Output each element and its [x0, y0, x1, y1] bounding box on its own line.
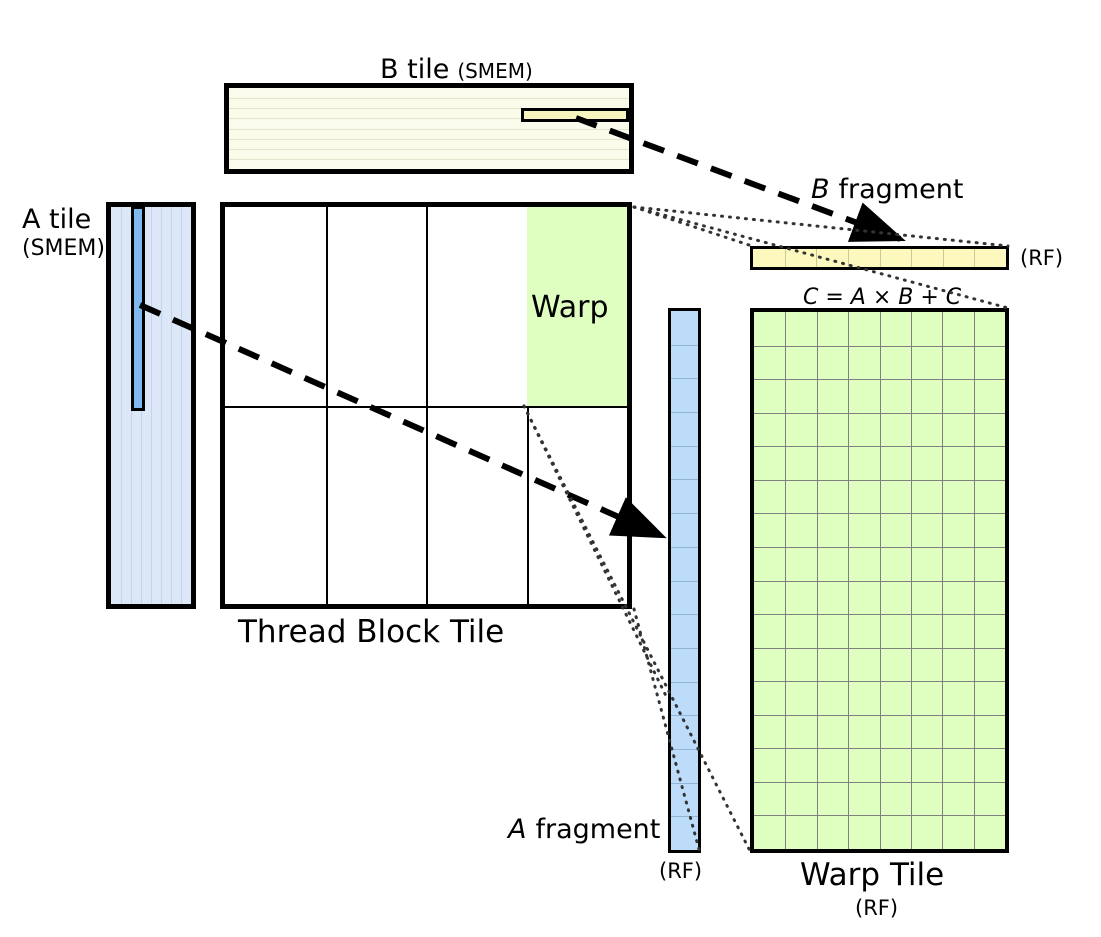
- stripe-line: [171, 207, 172, 604]
- warp-tile-cells: [754, 312, 1005, 849]
- grid-line-horizontal: [754, 614, 1005, 615]
- stripe-line: [161, 207, 162, 604]
- a-tile-title-main: A tile: [22, 204, 91, 235]
- grid-line-horizontal: [754, 748, 1005, 749]
- stripe-line: [785, 249, 786, 267]
- stripe-line: [911, 249, 912, 267]
- grid-line-horizontal: [754, 379, 1005, 380]
- b-fragment-strip: [750, 246, 1009, 270]
- warp-tile-grid: [750, 308, 1009, 853]
- b-fragment-text: fragment: [839, 174, 964, 205]
- stripe-line: [671, 614, 698, 615]
- stripe-line: [671, 446, 698, 447]
- warp-tile-label: Warp Tile: [800, 860, 944, 891]
- grid-line-horizontal: [754, 715, 1005, 716]
- a-tile-title: A tile (SMEM): [22, 206, 105, 265]
- stripe-line: [848, 249, 849, 267]
- thread-block-tile-label: Thread Block Tile: [238, 617, 504, 648]
- stripe-line: [671, 547, 698, 548]
- b-fragment-mem-label: (RF): [1020, 248, 1063, 269]
- grid-line-horizontal: [754, 446, 1005, 447]
- stripe-line: [671, 648, 698, 649]
- b-tile-title-mem: (SMEM): [457, 59, 532, 83]
- a-tile-highlight-column: [131, 206, 145, 411]
- b-tile-title-main: B tile: [380, 54, 449, 85]
- thread-block-tile-grid: Warp: [220, 202, 632, 609]
- a-fragment-text: fragment: [535, 814, 660, 845]
- grid-line-horizontal: [754, 513, 1005, 514]
- b-fragment-cells: [753, 249, 1006, 267]
- stripe-line: [671, 783, 698, 784]
- a-fragment-strip: [668, 308, 701, 853]
- stripe-line: [671, 479, 698, 480]
- grid-line-horizontal: [754, 346, 1005, 347]
- stripe-line: [880, 249, 881, 267]
- stripe-line: [181, 207, 182, 604]
- warp-tile-mem-label: (RF): [855, 898, 898, 919]
- a-fragment-mem-label: (RF): [659, 861, 702, 882]
- stripe-line: [229, 139, 629, 140]
- stripe-line: [671, 816, 698, 817]
- grid-line-horizontal: [754, 681, 1005, 682]
- grid-line-horizontal: [225, 406, 627, 408]
- stripe-line: [229, 129, 629, 130]
- stripe-line: [671, 682, 698, 683]
- warp-tile-formula: C = A × B + C: [803, 287, 961, 309]
- stripe-line: [671, 513, 698, 514]
- leader-warp-topright-to-b-fragment: [634, 207, 1008, 246]
- b-tile-highlight-strip: [521, 108, 629, 122]
- a-tile-title-mem: (SMEM): [22, 236, 105, 261]
- stripe-line: [229, 149, 629, 150]
- stripe-line: [671, 345, 698, 346]
- a-fragment-cells: [671, 311, 698, 850]
- stripe-line: [151, 207, 152, 604]
- grid-line-horizontal: [754, 782, 1005, 783]
- stripe-line: [671, 378, 698, 379]
- grid-line-horizontal: [754, 815, 1005, 816]
- diagram-canvas: B tile(SMEM) A tile (SMEM) Warp Thread B…: [0, 0, 1101, 937]
- stripe-line: [974, 249, 975, 267]
- stripe-line: [943, 249, 944, 267]
- a-tile-stripes: [111, 207, 191, 604]
- a-tile-smem-block: [106, 202, 196, 609]
- grid-line-horizontal: [754, 413, 1005, 414]
- grid-line-horizontal: [754, 547, 1005, 548]
- stripe-line: [671, 581, 698, 582]
- b-tile-smem-block: [224, 83, 634, 174]
- a-fragment-name: A: [508, 814, 526, 845]
- b-fragment-title: Bfragment: [811, 176, 963, 203]
- leader-warp-topleft-to-b-fragment: [634, 207, 752, 246]
- grid-line-horizontal: [754, 648, 1005, 649]
- stripe-line: [229, 159, 629, 160]
- stripe-line: [671, 412, 698, 413]
- grid-line-horizontal: [754, 480, 1005, 481]
- a-fragment-title: Afragment: [508, 816, 660, 843]
- stripe-line: [121, 207, 122, 604]
- stripe-line: [229, 98, 629, 99]
- stripe-line: [671, 749, 698, 750]
- stripe-line: [816, 249, 817, 267]
- b-fragment-name: B: [811, 174, 830, 205]
- grid-line-horizontal: [754, 581, 1005, 582]
- b-tile-title: B tile(SMEM): [380, 56, 533, 83]
- stripe-line: [671, 715, 698, 716]
- b-tile-stripes: [229, 88, 629, 169]
- warp-cell-label: Warp: [531, 293, 609, 323]
